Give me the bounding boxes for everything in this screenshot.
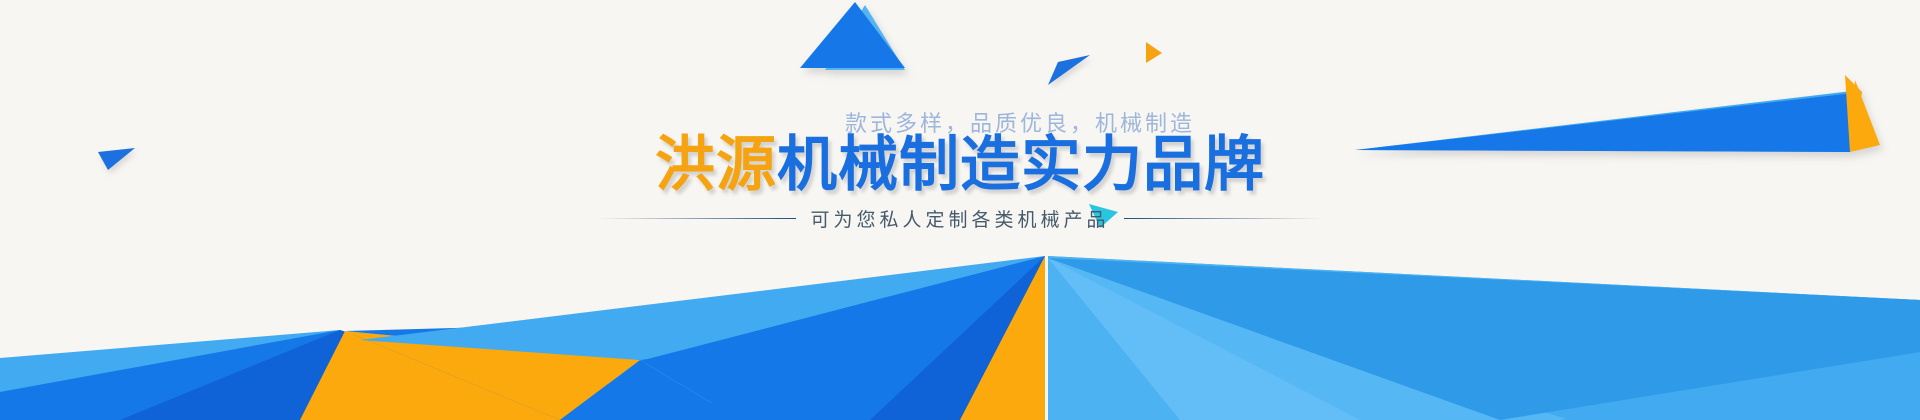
hero-banner: 款式多样，品质优良，机械制造 洪源机械制造实力品牌 可为您私人定制各类机械产品 [0, 0, 1920, 420]
decorative-background [0, 0, 1920, 420]
